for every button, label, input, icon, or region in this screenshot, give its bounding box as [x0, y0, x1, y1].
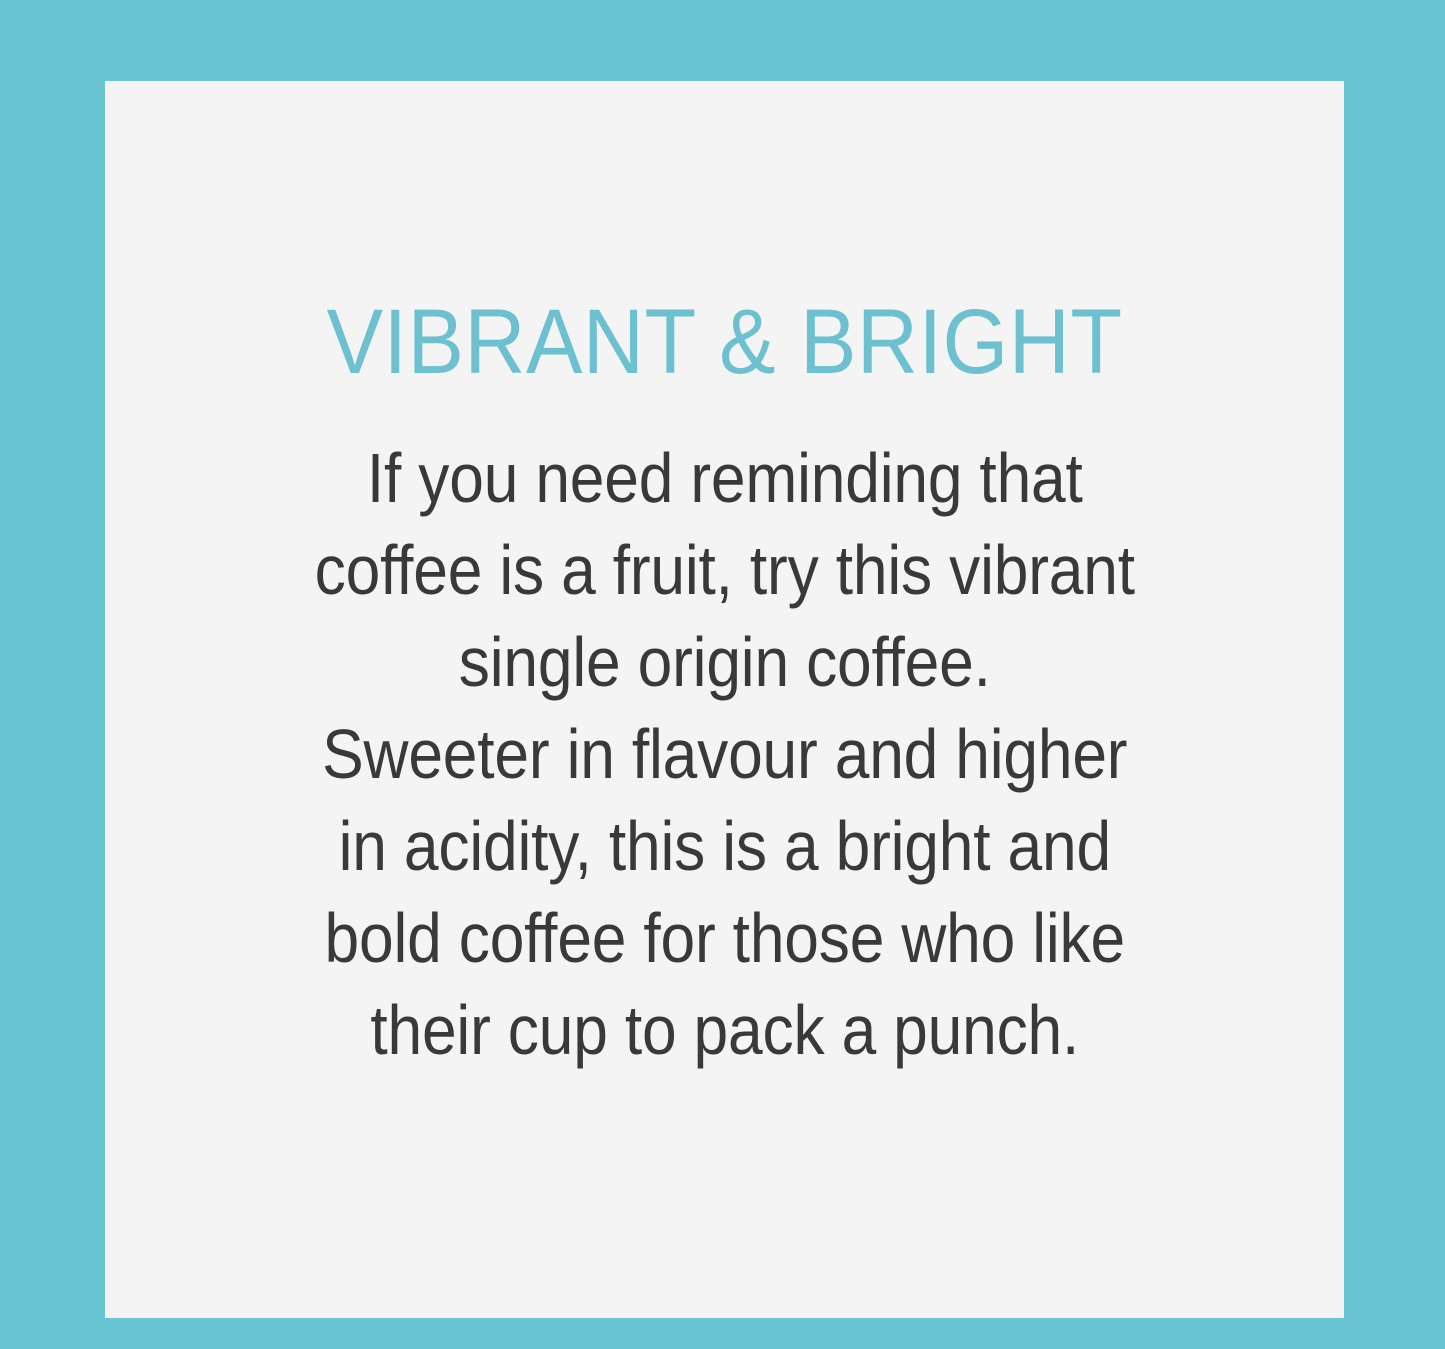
content-panel: VIBRANT & BRIGHT If you need reminding t…: [105, 81, 1344, 1318]
teal-framed-card: VIBRANT & BRIGHT If you need reminding t…: [0, 0, 1445, 1349]
page-title: VIBRANT & BRIGHT: [327, 296, 1123, 388]
body-description: If you need reminding that coffee is a f…: [314, 388, 1134, 1076]
panel-inner: VIBRANT & BRIGHT If you need reminding t…: [105, 81, 1344, 1076]
